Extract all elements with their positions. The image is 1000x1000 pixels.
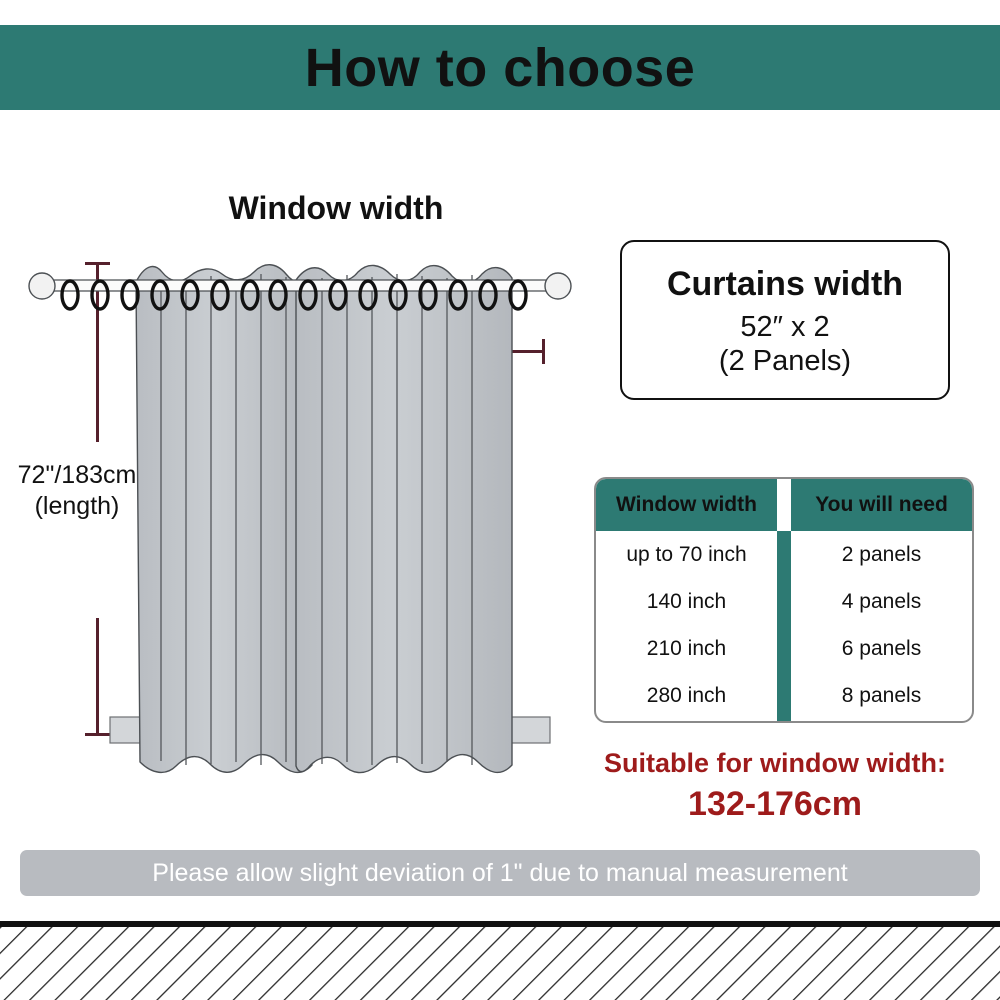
panel-selection-table: Window width You will need up to 70 inch… (594, 477, 974, 723)
window-and-curtains-drawing (0, 110, 600, 830)
cell-window-width: 140 inch (596, 578, 777, 625)
curtain-illustration: Window width 72"/183cm (length) (0, 110, 600, 830)
cell-panels: 4 panels (791, 578, 972, 625)
curtains-width-panel-count: (2 Panels) (719, 345, 851, 379)
cell-window-width: 210 inch (596, 625, 777, 672)
column-header-you-will-need: You will need (791, 479, 972, 531)
hatch-pattern-svg (0, 927, 1000, 1000)
suitable-width-range: 132-176cm (560, 783, 990, 826)
cell-window-width: 280 inch (596, 672, 777, 719)
table-body: up to 70 inch 2 panels 140 inch 4 panels… (596, 531, 972, 721)
table-header-row: Window width You will need (596, 479, 972, 531)
right-curtain-panel (296, 265, 512, 772)
curtains-width-title: Curtains width (667, 266, 903, 303)
cell-panels: 6 panels (791, 625, 972, 672)
suitable-width-label: Suitable for window width: (560, 748, 990, 779)
left-curtain-panel (136, 265, 312, 773)
curtains-width-callout: Curtains width 52″ x 2 (2 Panels) (620, 240, 950, 400)
header-band: How to choose (0, 25, 1000, 110)
cell-window-width: up to 70 inch (596, 531, 777, 578)
table-column-divider (777, 531, 791, 721)
suitable-width-note: Suitable for window width: 132-176cm (560, 748, 990, 826)
cell-panels: 2 panels (791, 531, 972, 578)
page-title: How to choose (305, 41, 696, 95)
curtains-width-dimensions: 52″ x 2 (719, 311, 851, 345)
curtains-width-value: 52″ x 2 (2 Panels) (719, 311, 851, 378)
column-header-window-width: Window width (596, 479, 777, 531)
hatch-pattern-strip (0, 927, 1000, 1000)
cell-panels: 8 panels (791, 672, 972, 719)
measurement-disclaimer: Please allow slight deviation of 1" due … (20, 850, 980, 896)
table-header-gap (777, 479, 791, 531)
